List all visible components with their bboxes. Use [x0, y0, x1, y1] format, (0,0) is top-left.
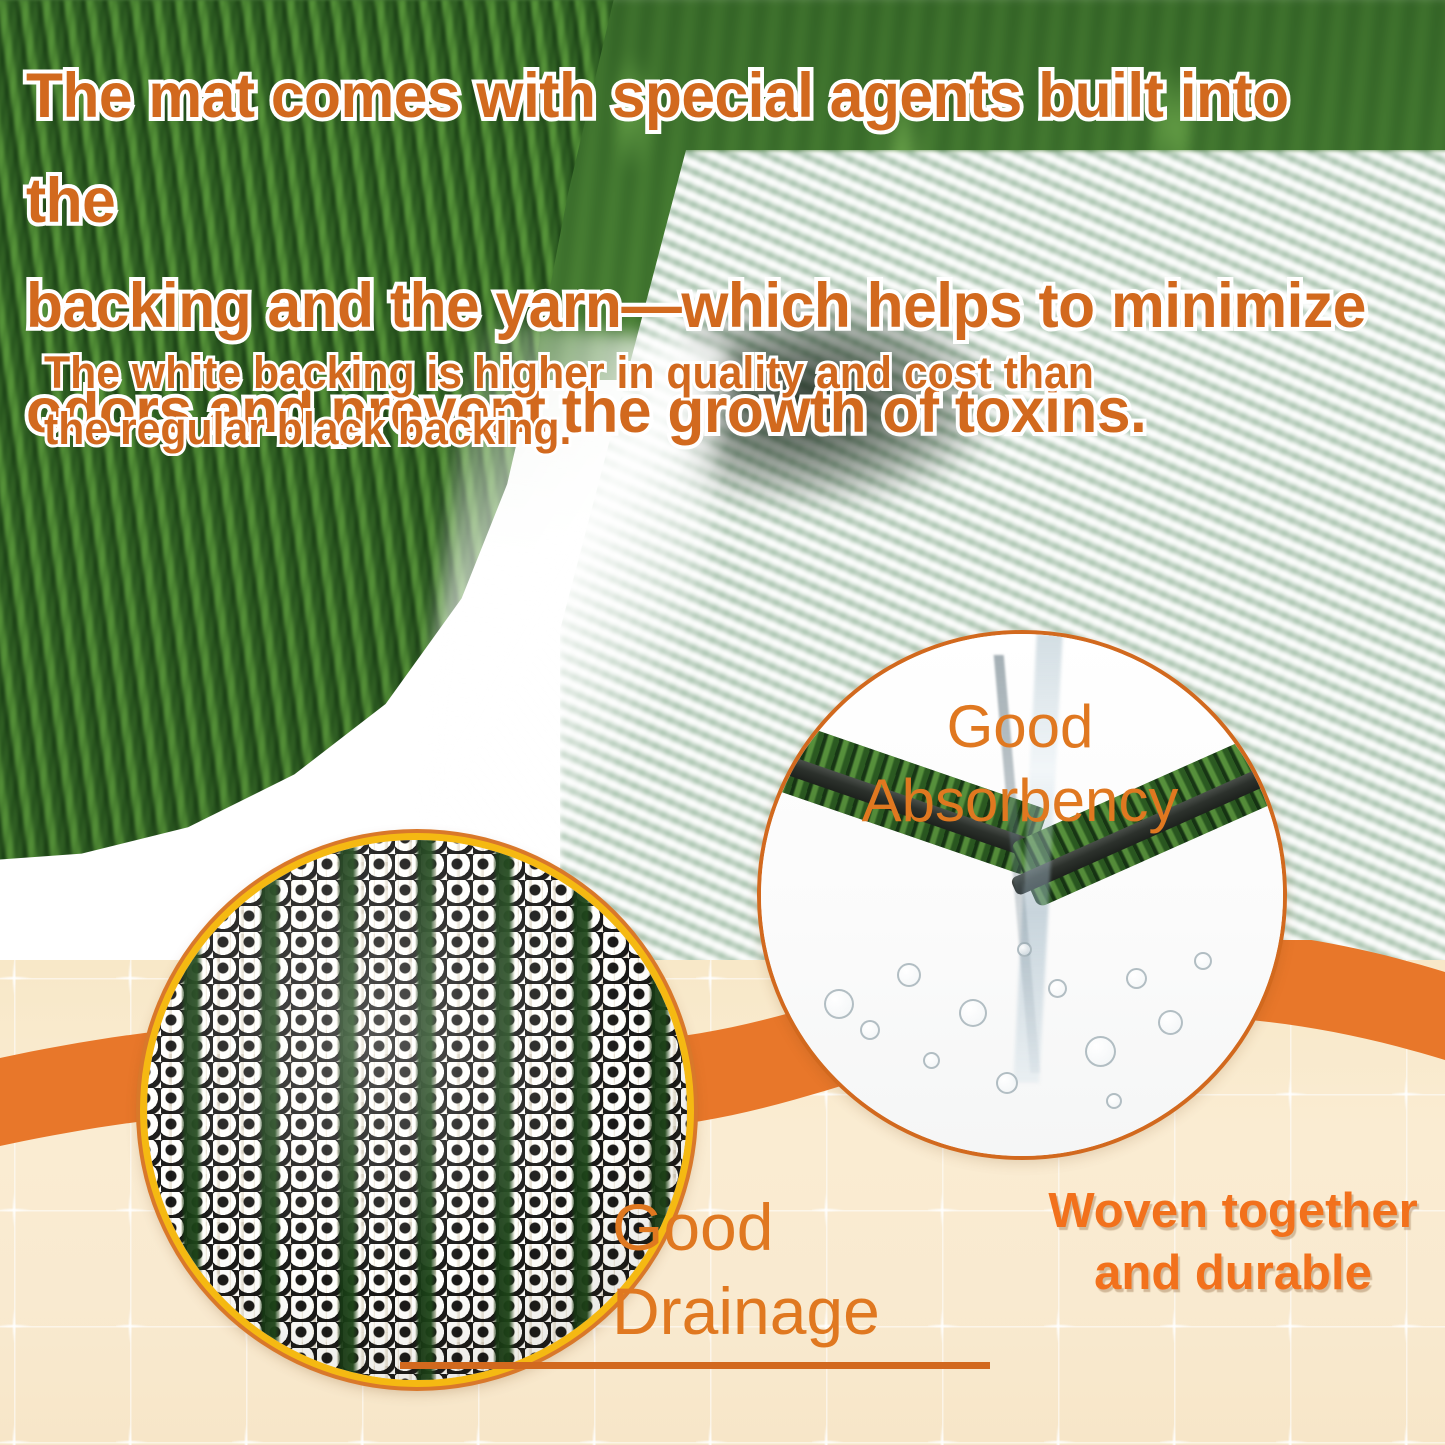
water-bubble	[824, 989, 854, 1019]
annotation-woven: Woven together and durable	[1018, 1180, 1445, 1304]
water-bubble	[897, 963, 921, 987]
water-bubble	[1017, 942, 1032, 957]
water-bubble	[1158, 1010, 1183, 1035]
callout-drainage-label: Good Drainage	[612, 1185, 1032, 1353]
water-bubble	[923, 1052, 940, 1069]
water-bubble	[1048, 979, 1067, 998]
drainage-underline	[400, 1362, 990, 1369]
callout-drainage	[140, 833, 694, 1387]
callout-absorbency-label: Good Absorbency	[790, 690, 1250, 838]
mesh-shading	[147, 840, 687, 1380]
water-bubble	[1106, 1093, 1122, 1109]
water-bubble	[1085, 1036, 1116, 1067]
subtitle: The white backing is higher in quality a…	[44, 345, 1232, 457]
product-feature-infographic: The mat comes with special agents built …	[0, 0, 1445, 1445]
